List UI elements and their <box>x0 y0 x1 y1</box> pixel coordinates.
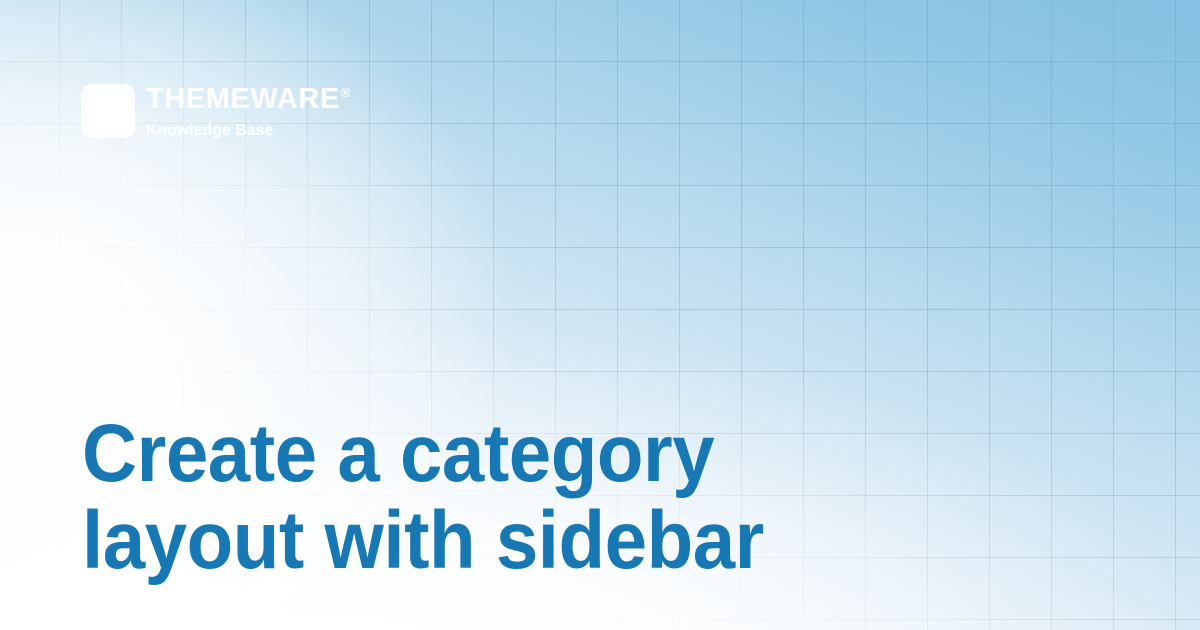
brand-logo-mark <box>81 84 135 138</box>
brand-subtitle: Knowledge Base <box>146 123 351 139</box>
stacked-windows-icon <box>91 95 125 127</box>
social-share-banner: THEMEWARE® Knowledge Base Create a categ… <box>0 0 1200 630</box>
page-title: Create a category layout with sidebar <box>82 410 1012 584</box>
brand-text-block: THEMEWARE® Knowledge Base <box>146 84 351 139</box>
brand-name: THEMEWARE® <box>146 85 351 114</box>
brand-lockup: THEMEWARE® Knowledge Base <box>81 84 351 139</box>
brand-name-label: THEMEWARE <box>146 83 340 115</box>
registered-trademark-icon: ® <box>341 85 351 100</box>
